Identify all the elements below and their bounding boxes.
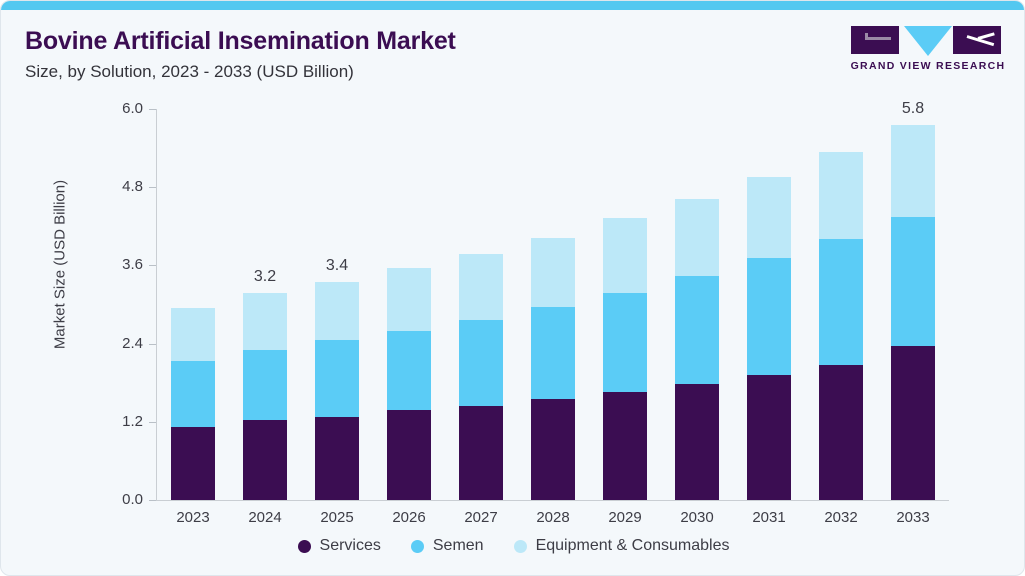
x-axis-tick-label: 2025 bbox=[298, 509, 376, 526]
y-axis-tick-mark bbox=[149, 344, 156, 345]
bar-segment[interactable] bbox=[603, 392, 647, 500]
page-subtitle: Size, by Solution, 2023 - 2033 (USD Bill… bbox=[25, 62, 354, 82]
x-axis-tick-label: 2032 bbox=[802, 509, 880, 526]
bar-segment[interactable] bbox=[315, 340, 359, 417]
bar-group[interactable] bbox=[747, 109, 791, 500]
bar-value-label: 3.4 bbox=[302, 257, 372, 275]
bar-group[interactable] bbox=[675, 109, 719, 500]
y-axis-tick-label: 1.2 bbox=[101, 414, 143, 429]
bar-segment[interactable] bbox=[891, 217, 935, 347]
y-axis-tick-mark bbox=[149, 265, 156, 266]
chart-legend: ServicesSemenEquipment & Consumables bbox=[1, 537, 1025, 555]
y-axis-tick-mark bbox=[149, 109, 156, 110]
bar-group[interactable] bbox=[603, 109, 647, 500]
logo-brand-text: GRAND VIEW RESEARCH bbox=[848, 60, 1008, 72]
bar-segment[interactable] bbox=[675, 384, 719, 500]
bar-segment[interactable] bbox=[603, 293, 647, 392]
bar-segment[interactable] bbox=[171, 427, 215, 500]
bar-segment[interactable] bbox=[243, 350, 287, 420]
y-axis-tick-mark bbox=[149, 187, 156, 188]
x-axis-tick-label: 2029 bbox=[586, 509, 664, 526]
bar-segment[interactable] bbox=[387, 268, 431, 331]
bar-segment[interactable] bbox=[891, 125, 935, 217]
bar-segment[interactable] bbox=[819, 239, 863, 365]
bar-segment[interactable] bbox=[819, 365, 863, 500]
bar-segment[interactable] bbox=[531, 238, 575, 307]
x-axis-tick-label: 2028 bbox=[514, 509, 592, 526]
bar-group[interactable] bbox=[531, 109, 575, 500]
x-axis-tick-label: 2030 bbox=[658, 509, 736, 526]
y-axis-tick-mark bbox=[149, 500, 156, 501]
legend-label: Semen bbox=[433, 537, 484, 555]
x-axis-tick-label: 2027 bbox=[442, 509, 520, 526]
bar-segment[interactable] bbox=[531, 399, 575, 500]
legend-item[interactable]: Services bbox=[298, 537, 381, 555]
y-axis-tick-mark bbox=[149, 422, 156, 423]
bar-segment[interactable] bbox=[459, 406, 503, 500]
logo-left-line-icon bbox=[865, 37, 891, 40]
y-axis-tick-label: 0.0 bbox=[101, 492, 143, 507]
bar-group[interactable] bbox=[819, 109, 863, 500]
bar-segment[interactable] bbox=[747, 177, 791, 257]
y-axis-tick-label: 2.4 bbox=[101, 336, 143, 351]
bar-group[interactable] bbox=[459, 109, 503, 500]
bar-group[interactable]: 3.4 bbox=[315, 109, 359, 500]
bar-segment[interactable] bbox=[387, 410, 431, 500]
y-axis-tick-label: 3.6 bbox=[101, 257, 143, 272]
bar-value-label: 3.2 bbox=[230, 268, 300, 286]
logo-triangle-icon bbox=[904, 26, 952, 56]
logo-marks bbox=[845, 23, 1008, 57]
bar-group[interactable] bbox=[387, 109, 431, 500]
bar-segment[interactable] bbox=[315, 417, 359, 500]
bar-segment[interactable] bbox=[531, 307, 575, 399]
bar-segment[interactable] bbox=[243, 420, 287, 500]
legend-item[interactable]: Equipment & Consumables bbox=[514, 537, 730, 555]
grand-view-research-logo: GRAND VIEW RESEARCH bbox=[845, 23, 1008, 81]
y-axis-tick-label: 4.8 bbox=[101, 179, 143, 194]
x-axis-tick-label: 2026 bbox=[370, 509, 448, 526]
y-axis-tick-label: 6.0 bbox=[101, 101, 143, 116]
x-axis-tick-label: 2024 bbox=[226, 509, 304, 526]
x-axis-line bbox=[156, 500, 949, 501]
legend-swatch-icon bbox=[411, 540, 424, 553]
chart-card: Bovine Artificial Insemination Market Si… bbox=[0, 0, 1025, 576]
bar-group[interactable] bbox=[171, 109, 215, 500]
top-accent-bar bbox=[1, 1, 1025, 10]
bar-segment[interactable] bbox=[675, 199, 719, 276]
plot-area: 3.23.45.8 bbox=[157, 109, 949, 500]
logo-left-block-icon bbox=[851, 26, 899, 54]
bar-segment[interactable] bbox=[387, 331, 431, 410]
bar-segment[interactable] bbox=[675, 276, 719, 384]
bar-segment[interactable] bbox=[603, 218, 647, 293]
legend-swatch-icon bbox=[514, 540, 527, 553]
x-axis-tick-label: 2023 bbox=[154, 509, 232, 526]
x-axis-tick-label: 2033 bbox=[874, 509, 952, 526]
bar-group[interactable]: 3.2 bbox=[243, 109, 287, 500]
legend-swatch-icon bbox=[298, 540, 311, 553]
bar-segment[interactable] bbox=[171, 308, 215, 361]
legend-label: Services bbox=[320, 537, 381, 555]
legend-label: Equipment & Consumables bbox=[536, 537, 730, 555]
chart-header: Bovine Artificial Insemination Market Si… bbox=[1, 10, 1025, 88]
logo-left-tick-icon bbox=[865, 33, 868, 40]
bar-group[interactable]: 5.8 bbox=[891, 109, 935, 500]
bar-segment[interactable] bbox=[315, 282, 359, 340]
bar-segment[interactable] bbox=[891, 346, 935, 500]
bar-segment[interactable] bbox=[459, 254, 503, 320]
bar-segment[interactable] bbox=[747, 375, 791, 500]
y-axis-title: Market Size (USD Billion) bbox=[52, 150, 69, 380]
y-axis-tick-labels: 6.04.83.62.41.20.0 bbox=[97, 1, 143, 576]
page-title: Bovine Artificial Insemination Market bbox=[25, 27, 456, 56]
bar-segment[interactable] bbox=[459, 320, 503, 407]
legend-item[interactable]: Semen bbox=[411, 537, 484, 555]
bar-segment[interactable] bbox=[747, 258, 791, 375]
bar-segment[interactable] bbox=[819, 152, 863, 239]
bar-segment[interactable] bbox=[243, 293, 287, 350]
bar-value-label: 5.8 bbox=[878, 100, 948, 118]
x-axis-tick-label: 2031 bbox=[730, 509, 808, 526]
bar-segment[interactable] bbox=[171, 361, 215, 427]
